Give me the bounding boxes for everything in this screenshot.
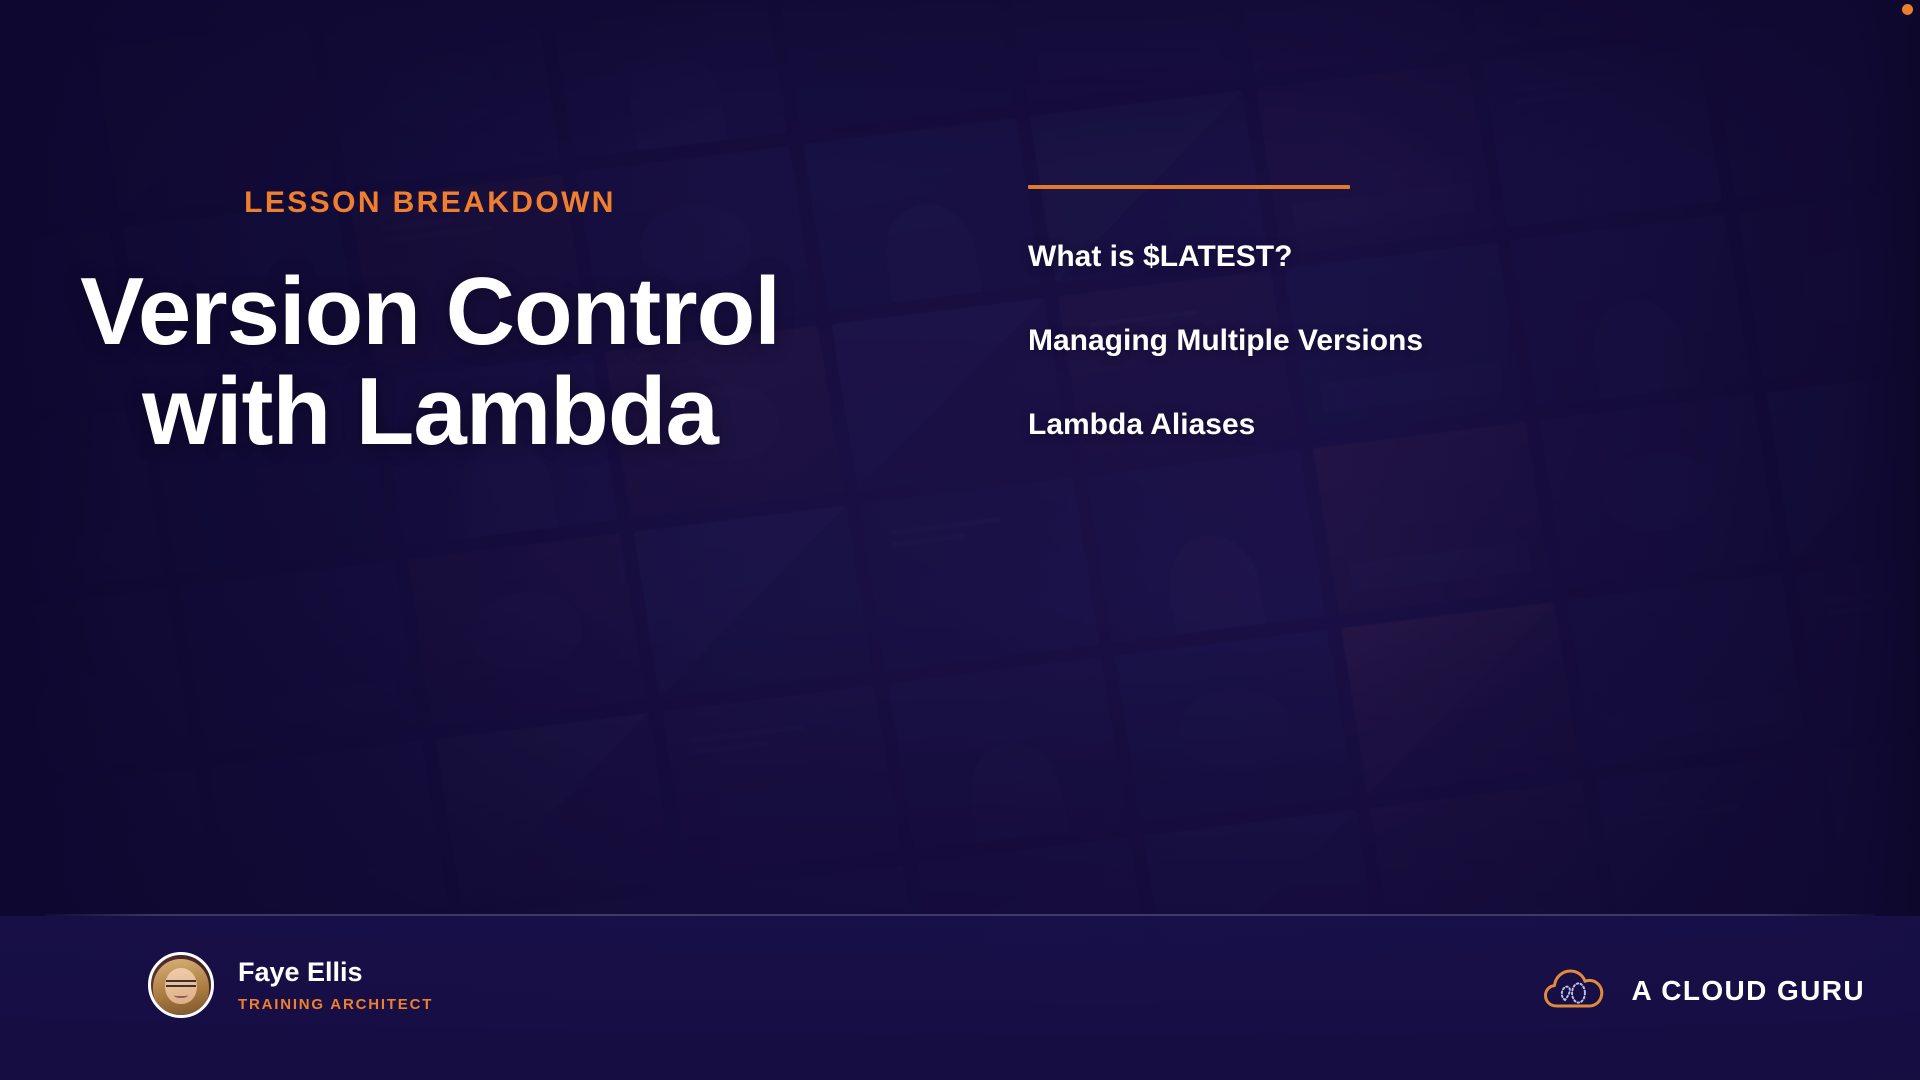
orange-dot-icon [1902, 4, 1913, 15]
presenter-role: TRAINING ARCHITECT [238, 996, 433, 1013]
glasses-icon [166, 980, 196, 987]
topics-column: What is $LATEST? Managing Multiple Versi… [1028, 185, 1588, 443]
title-column: LESSON BREAKDOWN Version Control with La… [0, 150, 860, 462]
eyebrow-label: LESSON BREAKDOWN [0, 150, 860, 218]
footer-bar: Faye Ellis TRAINING ARCHITECT A CLOUD GU… [0, 916, 1920, 1080]
page-title: Version Control with Lambda [0, 262, 860, 462]
presenter-info: Faye Ellis TRAINING ARCHITECT [148, 952, 433, 1018]
topic-item-2: Managing Multiple Versions [1028, 323, 1588, 359]
brand-lockup: A CLOUD GURU [1543, 966, 1865, 1015]
presenter-name: Faye Ellis [238, 957, 433, 988]
avatar [148, 952, 214, 1018]
lesson-breakdown-slide: LESSON BREAKDOWN Version Control with La… [0, 0, 1920, 1080]
topic-item-1: What is $LATEST? [1028, 239, 1588, 275]
topic-item-3: Lambda Aliases [1028, 407, 1588, 443]
presenter-text: Faye Ellis TRAINING ARCHITECT [238, 957, 433, 1012]
brand-name: A CLOUD GURU [1631, 975, 1865, 1007]
orange-divider [1028, 185, 1350, 189]
cloud-guru-logo-icon [1543, 966, 1605, 1015]
